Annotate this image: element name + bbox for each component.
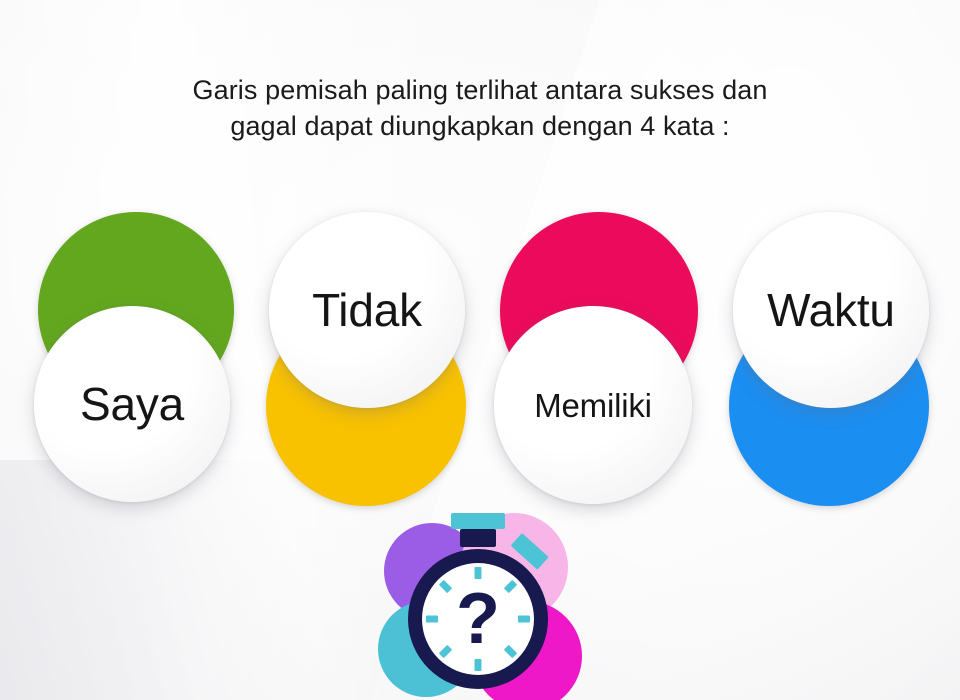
word-circle-memiliki[interactable]: Memiliki [494, 306, 692, 504]
page-title-line-2: gagal dapat diungkapkan dengan 4 kata : [70, 108, 890, 144]
word-label-memiliki: Memiliki [534, 389, 652, 422]
page-title: Garis pemisah paling terlihat antara suk… [0, 72, 960, 144]
word-group-saya[interactable]: Saya [34, 212, 244, 512]
stopwatch-illustration: ? [378, 505, 578, 700]
page-title-line-1: Garis pemisah paling terlihat antara suk… [70, 72, 890, 108]
word-label-tidak: Tidak [312, 287, 422, 333]
stopwatch-icon: ? [394, 513, 564, 695]
word-circle-waktu[interactable]: Waktu [733, 212, 929, 408]
stopwatch-crown [451, 513, 505, 547]
word-label-waktu: Waktu [767, 287, 895, 333]
word-group-memiliki[interactable]: Memiliki [494, 212, 706, 512]
stopwatch-question-mark: ? [456, 579, 500, 659]
word-group-waktu[interactable]: Waktu [726, 212, 938, 512]
word-circle-saya[interactable]: Saya [34, 306, 230, 502]
slide-canvas: Garis pemisah paling terlihat antara suk… [0, 0, 960, 700]
word-label-saya: Saya [80, 381, 184, 427]
word-group-tidak[interactable]: Tidak [262, 212, 474, 512]
word-circle-tidak[interactable]: Tidak [269, 212, 465, 408]
